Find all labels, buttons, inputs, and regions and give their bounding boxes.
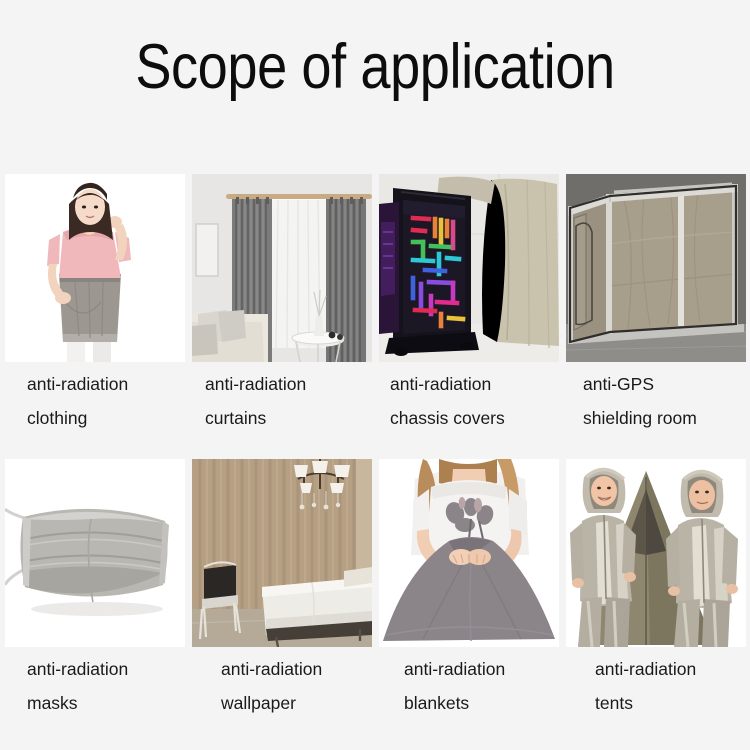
caption-line-2: masks (27, 695, 185, 713)
caption-line-2: curtains (205, 410, 372, 428)
application-grid: anti-radiation clothing (5, 174, 745, 744)
grid-item-anti-radiation-curtains[interactable]: anti-radiation curtains (192, 174, 372, 427)
caption-line-1: anti-radiation (27, 376, 185, 394)
grid-item-anti-gps-shielding-room[interactable]: anti-GPS shielding room (566, 174, 746, 427)
infographic-page: Scope of application (0, 0, 750, 750)
caption-line-2: wallpaper (221, 695, 372, 713)
caption-anti-radiation-chassis-covers: anti-radiation chassis covers (379, 376, 559, 427)
photo-anti-radiation-wallpaper (192, 459, 372, 647)
caption-line-2: clothing (27, 410, 185, 428)
caption-anti-radiation-masks: anti-radiation masks (5, 661, 185, 712)
caption-anti-radiation-tents: anti-radiation tents (566, 661, 746, 712)
photo-anti-gps-shielding-room (566, 174, 746, 362)
grid-item-anti-radiation-chassis-covers[interactable]: anti-radiation chassis covers (379, 174, 559, 427)
photo-anti-radiation-tents (566, 459, 746, 647)
caption-line-1: anti-radiation (390, 376, 559, 394)
caption-anti-radiation-clothing: anti-radiation clothing (5, 376, 185, 427)
caption-anti-radiation-wallpaper: anti-radiation wallpaper (192, 661, 372, 712)
caption-anti-gps-shielding-room: anti-GPS shielding room (566, 376, 746, 427)
caption-line-1: anti-radiation (404, 661, 559, 679)
caption-line-1: anti-radiation (221, 661, 372, 679)
caption-line-2: chassis covers (390, 410, 559, 428)
caption-line-2: blankets (404, 695, 559, 713)
caption-anti-radiation-blankets: anti-radiation blankets (379, 661, 559, 712)
grid-row: anti-radiation masks (5, 459, 745, 744)
grid-item-anti-radiation-wallpaper[interactable]: anti-radiation wallpaper (192, 459, 372, 712)
photo-anti-radiation-masks (5, 459, 185, 647)
caption-line-2: shielding room (583, 410, 746, 428)
caption-line-2: tents (595, 695, 746, 713)
photo-anti-radiation-clothing (5, 174, 185, 362)
caption-line-1: anti-radiation (595, 661, 746, 679)
photo-anti-radiation-blankets (379, 459, 559, 647)
caption-line-1: anti-GPS (583, 376, 746, 394)
caption-line-1: anti-radiation (205, 376, 372, 394)
grid-row: anti-radiation clothing (5, 174, 745, 459)
photo-anti-radiation-curtains (192, 174, 372, 362)
caption-line-1: anti-radiation (27, 661, 185, 679)
caption-anti-radiation-curtains: anti-radiation curtains (192, 376, 372, 427)
page-title: Scope of application (53, 36, 698, 99)
photo-anti-radiation-chassis-covers (379, 174, 559, 362)
grid-item-anti-radiation-blankets[interactable]: anti-radiation blankets (379, 459, 559, 712)
grid-item-anti-radiation-tents[interactable]: anti-radiation tents (566, 459, 746, 712)
grid-item-anti-radiation-masks[interactable]: anti-radiation masks (5, 459, 185, 712)
grid-item-anti-radiation-clothing[interactable]: anti-radiation clothing (5, 174, 185, 427)
